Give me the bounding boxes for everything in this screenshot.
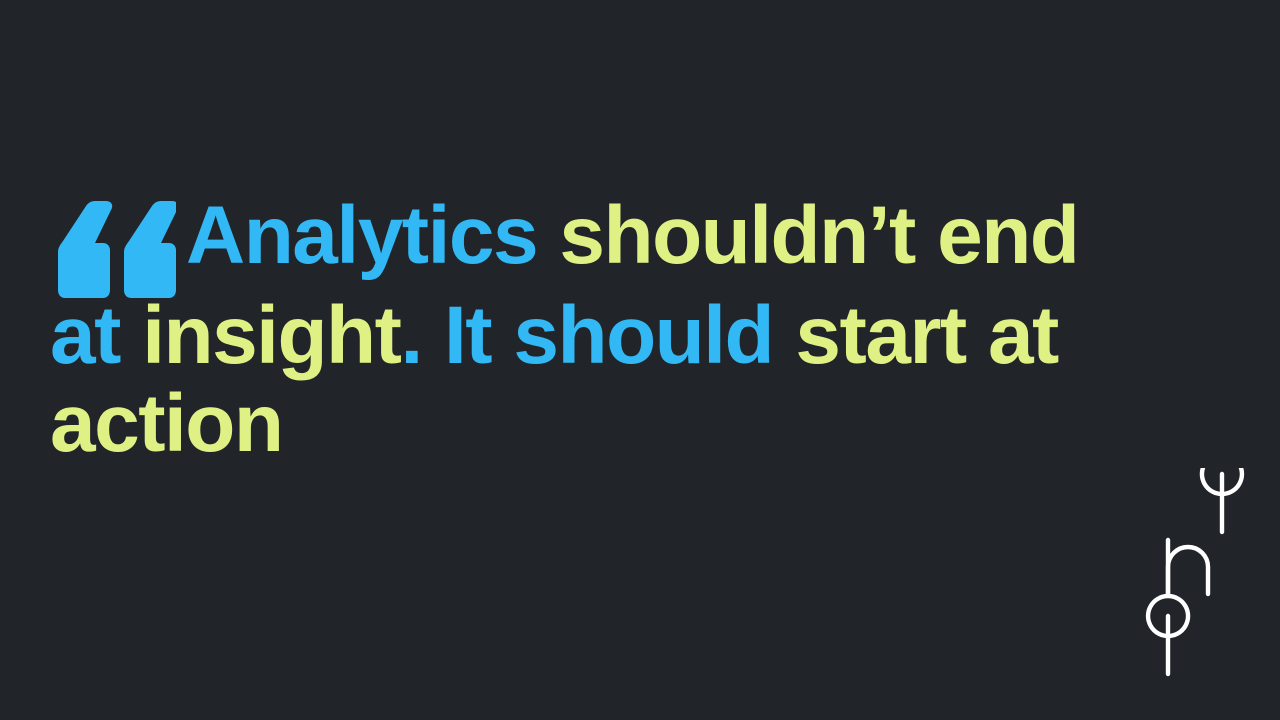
quote-segment-it-should: . It should <box>400 290 773 381</box>
dub-logo <box>1140 468 1250 680</box>
quote-segment-action: action <box>50 378 282 469</box>
double-quote-open-icon <box>50 200 176 300</box>
quote-segment-at: at <box>50 290 120 381</box>
quote-block: Analytics shouldn’t end at insight. It s… <box>50 192 1190 468</box>
quote-segment-analytics: Analytics <box>186 190 537 281</box>
quote-segment-start-at: start at <box>773 290 1058 381</box>
quote-line-2: at insight. It should start at <box>50 292 1190 380</box>
quote-segment-shouldnt-end: shouldn’t end <box>537 190 1078 281</box>
quote-line-1: Analytics shouldn’t end <box>50 192 1190 292</box>
quote-line-3: action <box>50 380 1190 468</box>
quote-segment-insight: insight <box>120 290 401 381</box>
quote-slide: Analytics shouldn’t end at insight. It s… <box>0 0 1280 720</box>
